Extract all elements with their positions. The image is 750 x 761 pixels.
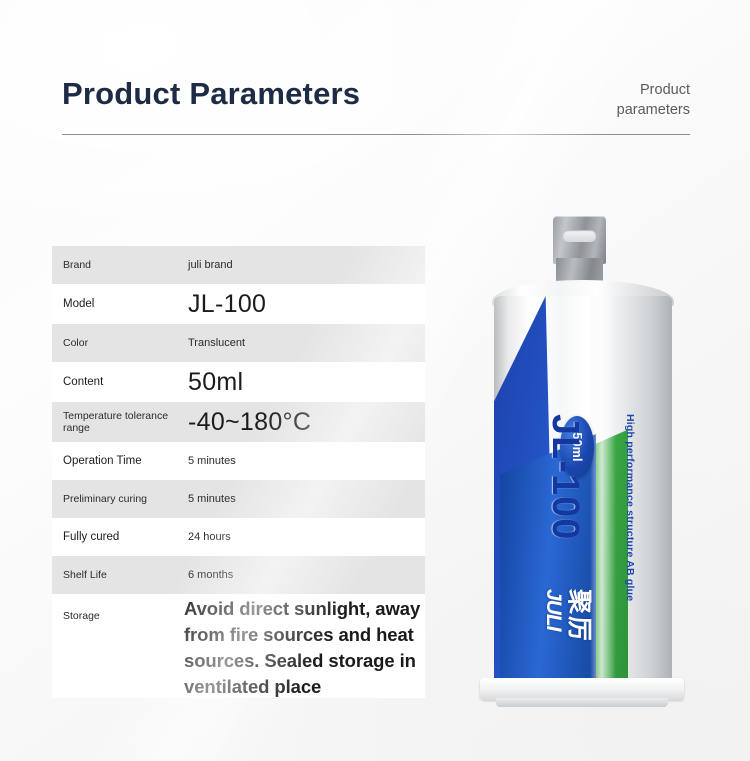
brand-logo-en: JULI [541, 589, 565, 631]
cartridge-cap-clip [553, 216, 606, 264]
cartridge-base-flange [480, 678, 684, 700]
row-value: 5 minutes [188, 493, 425, 505]
page-header: Product Parameters Product parameters [62, 70, 690, 140]
row-label: Model [52, 298, 188, 310]
row-label: Storage [52, 594, 188, 622]
cartridge-base-foot [496, 698, 668, 707]
table-row: Temperature tolerance range -40~180°C [52, 402, 425, 442]
row-label: Operation Time [52, 455, 188, 467]
header-divider [62, 134, 690, 135]
table-row: Color Translucent [52, 324, 425, 362]
table-row: Shelf Life 6 months [52, 556, 425, 594]
brand-logo-cn: 聚厉 [563, 589, 599, 643]
header-subtitle-line2: parameters [570, 100, 690, 120]
row-value: 5 minutes [188, 455, 425, 467]
row-label: Shelf Life [52, 569, 188, 581]
cap-slot [563, 230, 596, 242]
row-label: Brand [52, 259, 188, 271]
brand-logo: 聚厉 JULI [505, 583, 601, 657]
row-value: juli brand [188, 259, 425, 271]
table-row: Brand juli brand [52, 246, 425, 284]
row-value: JL-100 [188, 290, 425, 319]
row-label: Temperature tolerance range [52, 410, 188, 434]
product-parameters-page: Product Parameters Product parameters Br… [0, 0, 750, 761]
row-label: Color [52, 337, 188, 349]
table-row: Fully cured 24 hours [52, 518, 425, 556]
table-row: Preliminary curing 5 minutes [52, 480, 425, 518]
row-value: 6 months [188, 569, 425, 581]
table-row: Storage Avoid direct sunlight, away from… [52, 594, 425, 698]
row-label: Fully cured [52, 531, 188, 543]
page-title: Product Parameters [62, 76, 360, 112]
row-value: 24 hours [188, 531, 425, 543]
spec-table: Brand juli brand Model JL-100 Color Tran… [52, 246, 425, 698]
table-row: Operation Time 5 minutes [52, 442, 425, 480]
table-row: Content 50ml [52, 362, 425, 402]
row-value: Translucent [188, 337, 425, 349]
table-row: Model JL-100 [52, 284, 425, 324]
row-value: Avoid direct sunlight, away from fire so… [184, 594, 425, 700]
row-label: Preliminary curing [52, 493, 188, 505]
product-tagline-vertical: High performance structure AB glue [624, 414, 636, 634]
row-value: 50ml [188, 368, 425, 397]
header-subtitle-line1: Product [570, 80, 690, 100]
row-value: -40~180°C [188, 408, 425, 437]
header-subtitle: Product parameters [570, 80, 690, 120]
row-label: Content [52, 376, 188, 388]
product-image: 50ml JL-100 High performance structure A… [470, 216, 695, 716]
cartridge-body: 50ml JL-100 High performance structure A… [494, 296, 672, 688]
